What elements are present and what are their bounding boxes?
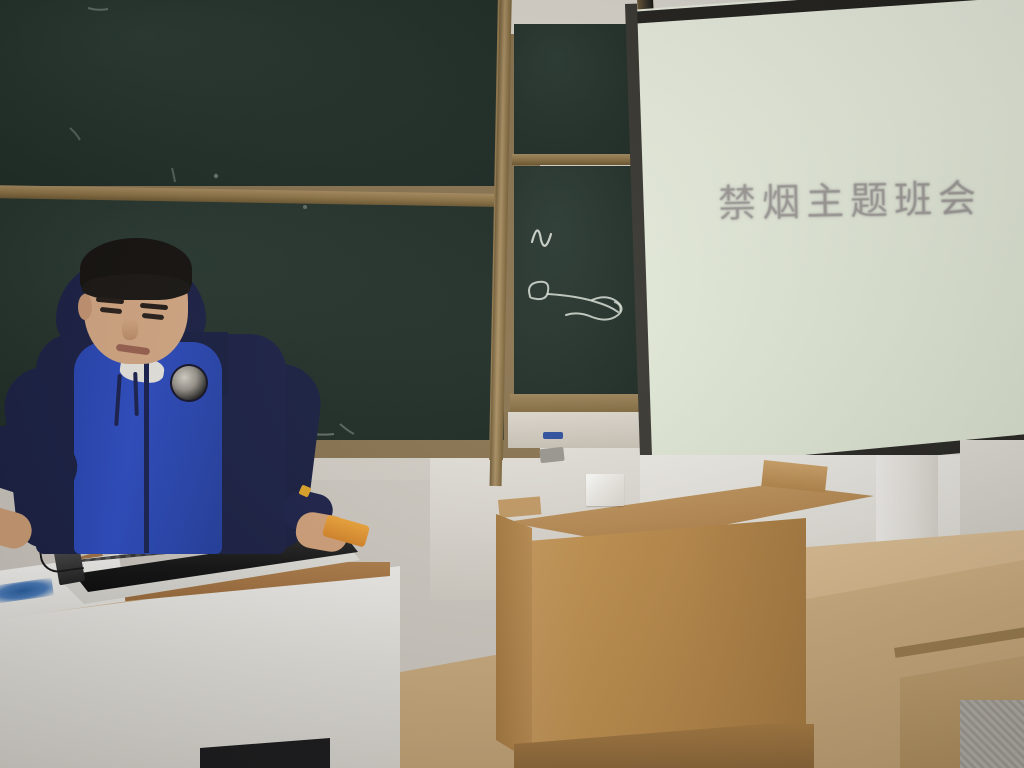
nose (122, 318, 138, 340)
lectern-lip-left (498, 496, 541, 518)
slide-title: 禁烟主题班会 (717, 167, 998, 228)
carpet (960, 700, 1024, 768)
lectern-side-panel (496, 504, 532, 762)
lectern[interactable] (496, 462, 874, 768)
blackboard-eraser[interactable] (543, 432, 563, 439)
projection-surface (620, 0, 1024, 480)
person (0, 238, 360, 578)
wall-bracket (539, 447, 564, 463)
projection-screen[interactable]: 禁烟主题班会 (620, 0, 1024, 480)
chalk-box[interactable] (586, 474, 624, 506)
ear (78, 294, 92, 320)
classroom-photo: 禁烟主题班会 (0, 0, 1024, 768)
hoodie-zipper (144, 348, 149, 553)
blackboard-panel-upper (0, 0, 504, 186)
